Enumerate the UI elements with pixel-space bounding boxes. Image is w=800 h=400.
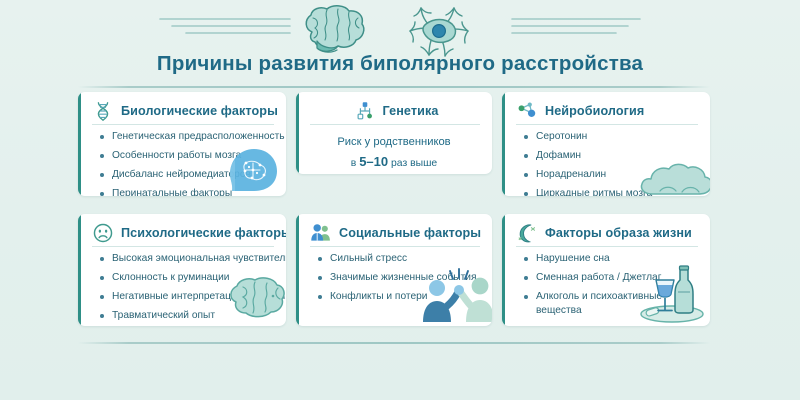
card-header-divider <box>516 246 698 247</box>
page-title: Причины развития биполярного расстройств… <box>0 52 800 76</box>
card-bullet-list: Сильный стресс Значимые жизненные событи… <box>318 252 484 309</box>
card-title: Психологические факторы <box>121 226 286 240</box>
card-genetics[interactable]: Генетика Риск у родственников в 5–10 раз… <box>296 92 492 174</box>
list-item: Сменная работа / Джетлаг <box>524 271 702 285</box>
sad-face-icon <box>92 222 114 244</box>
family-tree-icon <box>354 100 376 122</box>
card-social-factors[interactable]: Социальные факторы Сильный стресс Значим… <box>296 214 492 326</box>
molecule-icon <box>516 100 538 122</box>
list-item: Серотонин <box>524 130 702 144</box>
infographic-page: Причины развития биполярного расстройств… <box>0 0 800 400</box>
list-item: Перинатальные факторы <box>100 187 278 196</box>
people-icon <box>310 222 332 244</box>
list-item: Высокая эмоциональная чувствительность <box>100 252 278 266</box>
brain-icon <box>306 6 364 52</box>
card-title: Социальные факторы <box>339 226 481 240</box>
divider-bottom <box>78 342 710 344</box>
divider-top <box>78 86 710 88</box>
list-item: Дофамин <box>524 149 702 163</box>
card-header: Биологические факторы <box>92 99 276 123</box>
neuron-icon <box>410 8 468 56</box>
decorative-lines-right <box>512 19 640 33</box>
list-item: Алкоголь и психоактивные вещества <box>524 290 688 319</box>
list-item: Склонность к руминации <box>100 271 278 285</box>
genetics-prefix: в <box>351 158 359 169</box>
card-title: Генетика <box>383 104 439 118</box>
list-item: Сильный стресс <box>318 252 484 266</box>
list-item: Нарушение сна <box>524 252 702 266</box>
card-header-divider <box>310 124 480 125</box>
card-bullet-list: Высокая эмоциональная чувствительность С… <box>100 252 278 326</box>
moon-icon <box>516 222 538 244</box>
list-item: Особенности работы мозга <box>100 149 278 163</box>
card-header-divider <box>92 246 274 247</box>
genetics-statement-line1: Риск у родственников <box>296 134 492 152</box>
list-item: Генетическая предрасположенность <box>100 130 278 144</box>
genetics-statement-line2: в 5–10 раз выше <box>296 152 492 173</box>
card-lifestyle-factors[interactable]: Факторы образа жизни Нарушение сна Сменн… <box>502 214 710 326</box>
list-item: Значимые жизненные события <box>318 271 484 285</box>
card-title: Факторы образа жизни <box>545 226 692 240</box>
card-header: Психологические факторы <box>92 221 276 245</box>
card-header-divider <box>310 246 480 247</box>
list-item: Циркадные ритмы мозга <box>524 187 702 196</box>
card-title: Нейробиология <box>545 104 644 118</box>
dna-icon <box>92 100 114 122</box>
card-header: Социальные факторы <box>310 221 482 245</box>
card-header-divider <box>516 124 698 125</box>
list-item: Негативные интерпретации событий <box>100 290 278 304</box>
list-item: Дисбаланс нейромедиаторов <box>100 168 278 182</box>
card-biological-factors[interactable]: Биологические факторы Генетическая предр… <box>78 92 286 196</box>
list-item: Травматический опыт <box>100 309 278 323</box>
card-neurobiology[interactable]: Нейробиология Серотонин Дофамин Норадрен… <box>502 92 710 196</box>
card-bullet-list: Генетическая предрасположенность Особенн… <box>100 130 278 196</box>
card-bullet-list: Нарушение сна Сменная работа / Джетлаг А… <box>524 252 702 323</box>
card-header: Факторы образа жизни <box>516 221 700 245</box>
genetics-statement: Риск у родственников в 5–10 раз выше <box>296 134 492 173</box>
card-header-divider <box>92 124 274 125</box>
list-item: Конфликты и потери <box>318 290 484 304</box>
card-title: Биологические факторы <box>121 104 278 118</box>
card-psychological-factors[interactable]: Психологические факторы Высокая эмоциона… <box>78 214 286 326</box>
list-item: Норадреналин <box>524 168 702 182</box>
decorative-lines-left <box>160 19 290 33</box>
card-header: Генетика <box>310 99 482 123</box>
card-header: Нейробиология <box>516 99 700 123</box>
card-bullet-list: Серотонин Дофамин Норадреналин Циркадные… <box>524 130 702 196</box>
genetics-suffix: раз выше <box>388 158 437 169</box>
genetics-risk-value: 5–10 <box>359 154 388 169</box>
